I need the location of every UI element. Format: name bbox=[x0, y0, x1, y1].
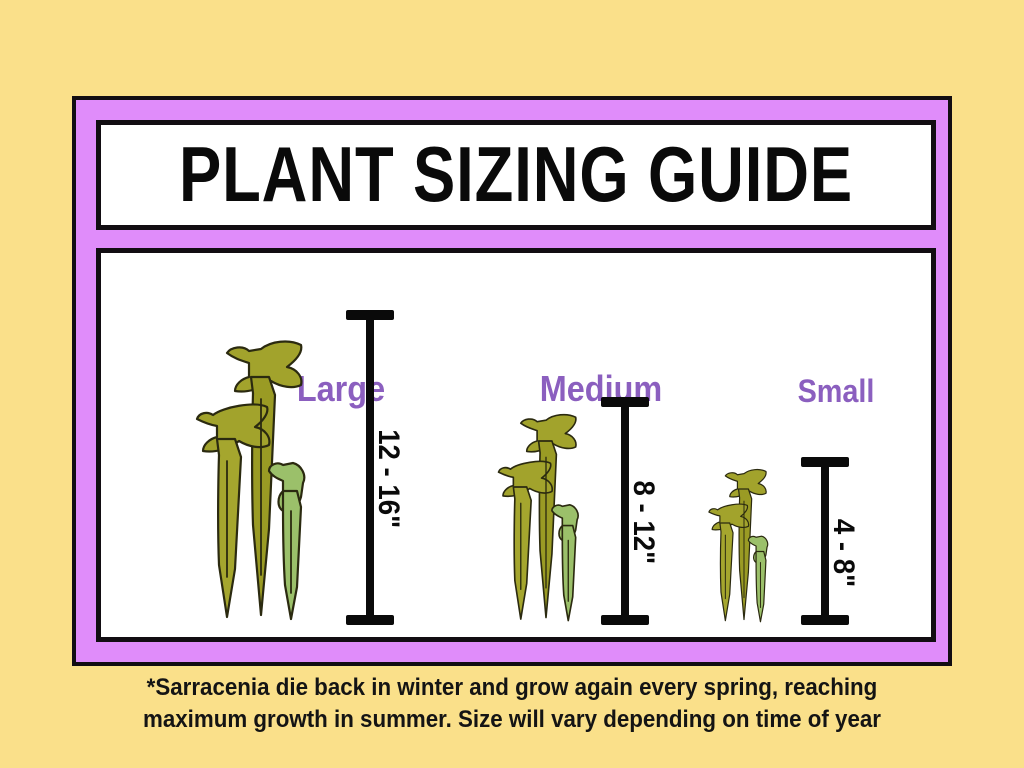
measurement-label-large: 12 - 16" bbox=[373, 429, 403, 528]
sarracenia-pitcher-plant-icon-large bbox=[191, 315, 331, 625]
plant-sizing-guide-poster: PLANT SIZING GUIDE Large Medium Small bbox=[0, 0, 1024, 768]
title-panel: PLANT SIZING GUIDE bbox=[96, 120, 936, 230]
measurement-ruler-large: 12 - 16" bbox=[346, 310, 394, 625]
measurement-label-small: 4 - 8" bbox=[828, 519, 858, 587]
poster-frame: PLANT SIZING GUIDE Large Medium Small bbox=[72, 96, 952, 666]
sarracenia-pitcher-plant-icon-medium bbox=[491, 395, 601, 625]
measurement-ruler-medium: 8 - 12" bbox=[601, 397, 649, 625]
ruler-cap-bottom bbox=[346, 615, 394, 625]
footnote-text: *Sarracenia die back in winter and grow … bbox=[103, 672, 921, 735]
ruler-cap-top bbox=[601, 397, 649, 407]
measurement-label-medium: 8 - 12" bbox=[628, 481, 658, 565]
page-title: PLANT SIZING GUIDE bbox=[179, 136, 853, 214]
ruler-cap-top bbox=[346, 310, 394, 320]
measurement-ruler-small: 4 - 8" bbox=[801, 457, 849, 625]
size-label-small: Small bbox=[760, 375, 913, 407]
sizing-chart-panel: Large Medium Small bbox=[96, 248, 936, 642]
ruler-cap-bottom bbox=[801, 615, 849, 625]
sarracenia-pitcher-plant-icon-small bbox=[701, 455, 787, 625]
ruler-cap-bottom bbox=[601, 615, 649, 625]
ruler-cap-top bbox=[801, 457, 849, 467]
